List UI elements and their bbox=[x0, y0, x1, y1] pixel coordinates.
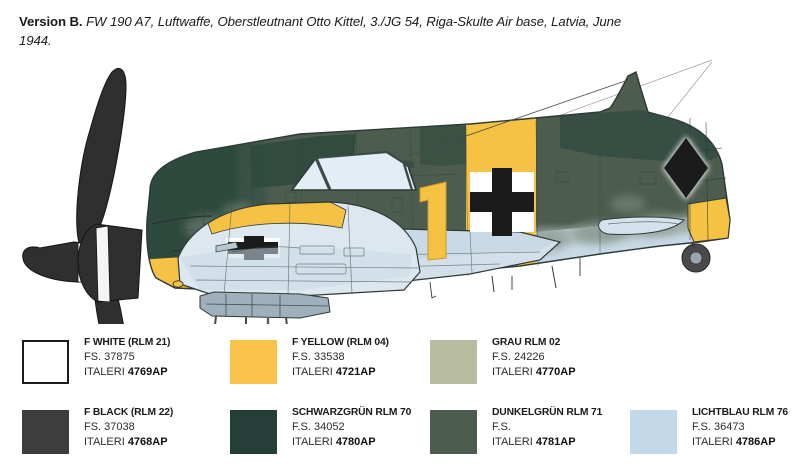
italeri-code: 4786AP bbox=[736, 436, 776, 448]
legend-fs-code: F.S. 33538 bbox=[292, 350, 442, 365]
aircraft-profile-illustration bbox=[0, 52, 800, 324]
legend-text-block: F YELLOW (RLM 04) F.S. 33538 ITALERI 472… bbox=[292, 336, 442, 380]
legend-text-block: DUNKELGRÜN RLM 71 F.S. ITALERI 4781AP bbox=[492, 406, 642, 450]
fuselage-balkenkreuz bbox=[470, 168, 534, 236]
italeri-code: 4780AP bbox=[336, 436, 376, 448]
italeri-code: 4781AP bbox=[536, 436, 576, 448]
page-title: Version B. FW 190 A7, Luftwaffe, Oberstl… bbox=[19, 12, 639, 50]
legend-text-block: LICHTBLAU RLM 76 F.S. 36473 ITALERI 4786… bbox=[692, 406, 800, 450]
colour-swatch bbox=[430, 410, 477, 454]
version-description: FW 190 A7, Luftwaffe, Oberstleutnant Ott… bbox=[19, 14, 621, 48]
legend-fs-code: FS. 37875 bbox=[84, 350, 234, 365]
italeri-label: ITALERI bbox=[492, 366, 536, 378]
legend-italeri-code: ITALERI 4781AP bbox=[492, 435, 642, 450]
colour-swatch bbox=[230, 340, 277, 384]
legend-text-block: SCHWARZGRÜN RLM 70 F.S. 34052 ITALERI 47… bbox=[292, 406, 442, 450]
italeri-code: 4768AP bbox=[128, 436, 168, 448]
paint-colour-legend: F WHITE (RLM 21) FS. 37875 ITALERI 4769A… bbox=[0, 330, 800, 470]
legend-colour-name: LICHTBLAU RLM 76 bbox=[692, 406, 800, 420]
legend-fs-code: F.S. bbox=[492, 420, 642, 435]
legend-colour-name: F YELLOW (RLM 04) bbox=[292, 336, 442, 350]
drop-tank-assembly bbox=[184, 292, 360, 324]
version-label: Version B. bbox=[19, 14, 83, 29]
italeri-label: ITALERI bbox=[292, 436, 336, 448]
legend-italeri-code: ITALERI 4721AP bbox=[292, 365, 442, 380]
cowl-latch bbox=[173, 281, 183, 287]
legend-fs-code: F.S. 34052 bbox=[292, 420, 442, 435]
tail-wheel bbox=[682, 242, 710, 272]
legend-fs-code: FS. 37038 bbox=[84, 420, 234, 435]
propeller-assembly bbox=[23, 68, 142, 324]
legend-italeri-code: ITALERI 4786AP bbox=[692, 435, 800, 450]
italeri-label: ITALERI bbox=[692, 436, 736, 448]
legend-row: F WHITE (RLM 21) FS. 37875 ITALERI 4769A… bbox=[0, 330, 800, 400]
italeri-code: 4769AP bbox=[128, 366, 168, 378]
italeri-code: 4721AP bbox=[336, 366, 376, 378]
legend-italeri-code: ITALERI 4780AP bbox=[292, 435, 442, 450]
legend-italeri-code: ITALERI 4770AP bbox=[492, 365, 642, 380]
legend-colour-name: SCHWARZGRÜN RLM 70 bbox=[292, 406, 442, 420]
italeri-label: ITALERI bbox=[84, 436, 128, 448]
italeri-code: 4770AP bbox=[536, 366, 576, 378]
legend-row: F BLACK (RLM 22) FS. 37038 ITALERI 4768A… bbox=[0, 400, 800, 470]
legend-colour-name: F WHITE (RLM 21) bbox=[84, 336, 234, 350]
legend-colour-name: DUNKELGRÜN RLM 71 bbox=[492, 406, 642, 420]
italeri-label: ITALERI bbox=[292, 366, 336, 378]
legend-text-block: F BLACK (RLM 22) FS. 37038 ITALERI 4768A… bbox=[84, 406, 234, 450]
colour-swatch bbox=[22, 340, 69, 384]
propeller-blade-upper bbox=[77, 68, 126, 246]
legend-colour-name: GRAU RLM 02 bbox=[492, 336, 642, 350]
colour-swatch bbox=[22, 410, 69, 454]
rudder-yellow bbox=[688, 198, 730, 242]
legend-italeri-code: ITALERI 4769AP bbox=[84, 365, 234, 380]
italeri-label: ITALERI bbox=[492, 436, 536, 448]
colour-swatch bbox=[630, 410, 677, 454]
legend-text-block: GRAU RLM 02 F.S. 24226 ITALERI 4770AP bbox=[492, 336, 642, 380]
colour-swatch bbox=[430, 340, 477, 384]
italeri-label: ITALERI bbox=[84, 366, 128, 378]
legend-fs-code: F.S. 24226 bbox=[492, 350, 642, 365]
legend-fs-code: F.S. 36473 bbox=[692, 420, 800, 435]
colour-swatch bbox=[230, 410, 277, 454]
spinner-white-stripe bbox=[96, 226, 110, 302]
legend-colour-name: F BLACK (RLM 22) bbox=[84, 406, 234, 420]
legend-text-block: F WHITE (RLM 21) FS. 37875 ITALERI 4769A… bbox=[84, 336, 234, 380]
pitot-tube bbox=[430, 282, 436, 298]
legend-italeri-code: ITALERI 4768AP bbox=[84, 435, 234, 450]
